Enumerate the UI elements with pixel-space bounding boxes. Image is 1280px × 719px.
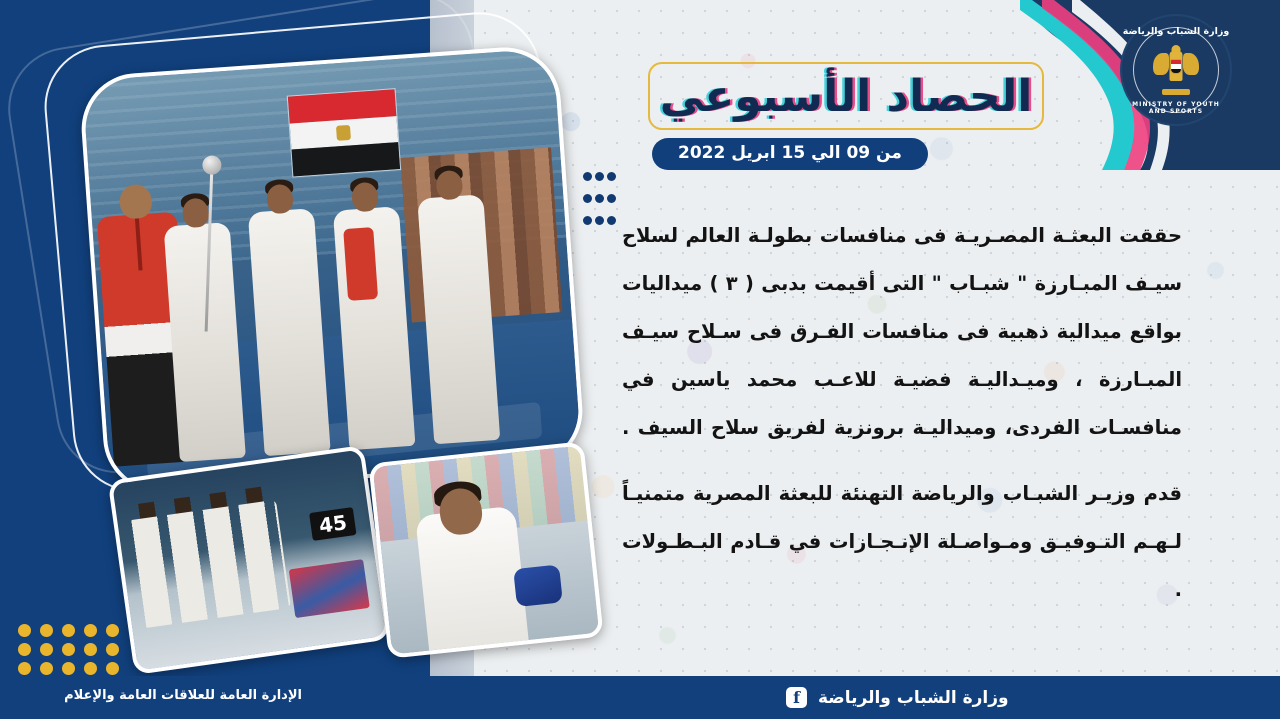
seal-arabic-name: وزارة الشباب والرياضة — [1122, 26, 1230, 37]
ministry-logo-seal: وزارة الشباب والرياضة MINISTRY OF YOUTH … — [1120, 14, 1232, 126]
article-body: حققت البعثـة المصـريـة فى منافسات بطولـة… — [622, 212, 1182, 614]
footer-brand-label: وزارة الشباب والرياضة — [818, 688, 1009, 708]
footer-department-label: الإدارة العامة للعلاقات العامة والإعلام — [64, 688, 302, 703]
paragraph-achievements: حققت البعثـة المصـريـة فى منافسات بطولـة… — [622, 212, 1182, 452]
date-range-badge: من 09 الي 15 ابريل 2022 — [652, 138, 928, 170]
photo-individual-fencer — [368, 441, 603, 659]
facebook-icon[interactable]: f — [786, 687, 807, 708]
photo-event-banner — [288, 559, 369, 618]
photo-team-lineup: 45 — [108, 445, 391, 675]
seal-english-name: MINISTRY OF YOUTH AND SPORTS — [1122, 101, 1230, 115]
footer-brand-group: وزارة الشباب والرياضة f — [786, 687, 1009, 708]
eagle-of-saladin-icon — [1153, 45, 1199, 95]
page-title: الحصاد الأسبوعي — [660, 71, 1033, 122]
scoreboard-value: 45 — [309, 507, 356, 541]
footer-bar: الإدارة العامة للعلاقات العامة والإعلام … — [0, 676, 1280, 719]
poster-root: وزارة الشباب والرياضة MINISTRY OF YOUTH … — [0, 0, 1280, 719]
paragraph-minister-congratulation: قدم وزيـر الشبـاب والرياضة التهنئة للبعث… — [622, 470, 1182, 614]
egypt-flag-icon — [287, 88, 401, 178]
title-frame: الحصاد الأسبوعي — [648, 62, 1044, 130]
photo-team-bodies — [127, 499, 291, 628]
photo-fencing-glove — [513, 565, 563, 608]
photo-main-team-celebration — [78, 44, 586, 496]
navy-dot-grid-decoration — [583, 172, 619, 238]
gold-dot-grid-decoration — [18, 624, 128, 681]
